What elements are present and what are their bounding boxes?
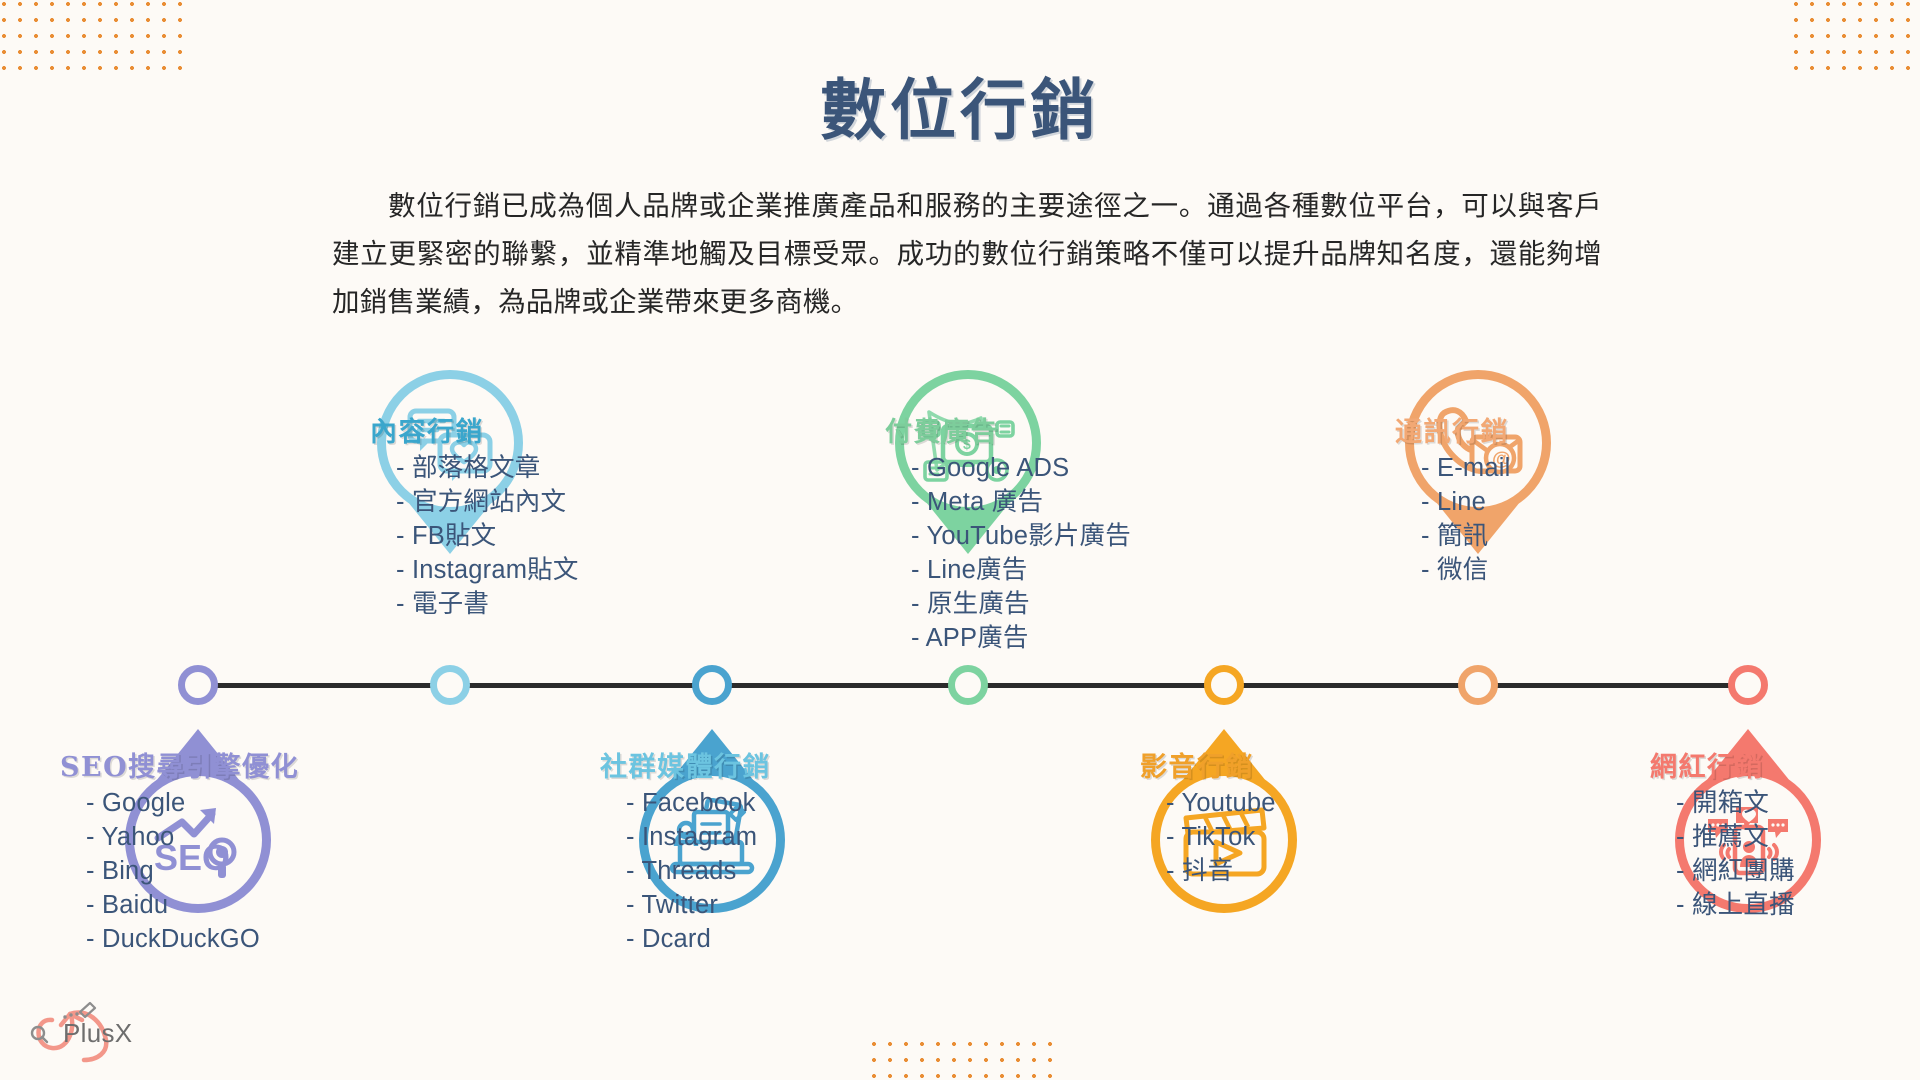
heading-social: 社群媒體行銷 (600, 745, 771, 784)
timeline-node-messaging[interactable] (1458, 665, 1498, 705)
list-item: Meta 廣告 (911, 485, 1131, 519)
list-video: YoutubeTikTok抖音 (1140, 786, 1276, 888)
block-content: 內容行銷部落格文章官方網站內文FB貼文Instagram貼文電子書 (370, 410, 579, 621)
list-item: Instagram (626, 820, 771, 854)
block-social: 社群媒體行銷FacebookInstagramThreadsTwitterDca… (600, 745, 771, 956)
list-item: Facebook (626, 786, 771, 820)
page-title: 數位行銷 (0, 57, 1920, 153)
list-item: Line廣告 (911, 553, 1131, 587)
list-item: Google (86, 786, 299, 820)
list-social: FacebookInstagramThreadsTwitterDcard (600, 786, 771, 956)
list-item: E-mail (1421, 451, 1510, 485)
list-item: Dcard (626, 922, 771, 956)
infographic-canvas: 數位行銷 數位行銷已成為個人品牌或企業推廣產品和服務的主要途徑之一。通過各種數位… (0, 0, 1920, 1080)
timeline-node-social[interactable] (692, 665, 732, 705)
timeline-node-content[interactable] (430, 665, 470, 705)
list-item: FB貼文 (396, 519, 579, 553)
list-seo: GoogleYahooBingBaiduDuckDuckGO (60, 786, 299, 956)
intro-paragraph: 數位行銷已成為個人品牌或企業推廣產品和服務的主要途徑之一。通過各種數位平台，可以… (332, 182, 1602, 326)
list-paid: Google ADSMeta 廣告YouTube影片廣告Line廣告原生廣告AP… (885, 451, 1131, 655)
block-paid: 付費廣告Google ADSMeta 廣告YouTube影片廣告Line廣告原生… (885, 410, 1131, 655)
heading-influencer: 網紅行銷 (1650, 745, 1795, 784)
list-item: 原生廣告 (911, 587, 1131, 621)
list-item: Threads (626, 854, 771, 888)
list-item: 部落格文章 (396, 451, 579, 485)
list-item: 電子書 (396, 587, 579, 621)
list-item: 開箱文 (1676, 786, 1795, 820)
list-item: 簡訊 (1421, 519, 1510, 553)
timeline-node-video[interactable] (1204, 665, 1244, 705)
list-item: APP廣告 (911, 621, 1131, 655)
plusx-logo: PlusX (18, 1000, 158, 1066)
list-content: 部落格文章官方網站內文FB貼文Instagram貼文電子書 (370, 451, 579, 621)
list-item: 推薦文 (1676, 820, 1795, 854)
heading-seo: SEO搜尋引擎優化 (60, 745, 299, 784)
heading-video: 影音行銷 (1140, 745, 1276, 784)
list-item: 微信 (1421, 553, 1510, 587)
list-item: Youtube (1166, 786, 1276, 820)
heading-paid: 付費廣告 (885, 410, 1131, 449)
list-item: 線上直播 (1676, 888, 1795, 922)
timeline-node-seo[interactable] (178, 665, 218, 705)
list-item: 抖音 (1166, 854, 1276, 888)
list-item: Baidu (86, 888, 299, 922)
list-item: Twitter (626, 888, 771, 922)
list-item: 網紅團購 (1676, 854, 1795, 888)
list-item: YouTube影片廣告 (911, 519, 1131, 553)
list-messaging: E-mailLine簡訊微信 (1395, 451, 1510, 587)
list-item: Instagram貼文 (396, 553, 579, 587)
plusx-logo-text: PlusX (63, 1018, 132, 1049)
heading-content: 內容行銷 (370, 410, 579, 449)
list-item: Yahoo (86, 820, 299, 854)
list-item: Bing (86, 854, 299, 888)
timeline-node-paid[interactable] (948, 665, 988, 705)
list-item: Line (1421, 485, 1510, 519)
timeline-node-influencer[interactable] (1728, 665, 1768, 705)
block-seo: SEO搜尋引擎優化GoogleYahooBingBaiduDuckDuckGO (60, 745, 299, 956)
block-influencer: 網紅行銷開箱文推薦文網紅團購線上直播 (1650, 745, 1795, 922)
list-item: 官方網站內文 (396, 485, 579, 519)
dot-grid-bottom-center (866, 1036, 1062, 1078)
heading-messaging: 通訊行銷 (1395, 410, 1510, 449)
list-item: DuckDuckGO (86, 922, 299, 956)
list-influencer: 開箱文推薦文網紅團購線上直播 (1650, 786, 1795, 922)
block-messaging: 通訊行銷E-mailLine簡訊微信 (1395, 410, 1510, 587)
list-item: TikTok (1166, 820, 1276, 854)
list-item: Google ADS (911, 451, 1131, 485)
block-video: 影音行銷YoutubeTikTok抖音 (1140, 745, 1276, 888)
